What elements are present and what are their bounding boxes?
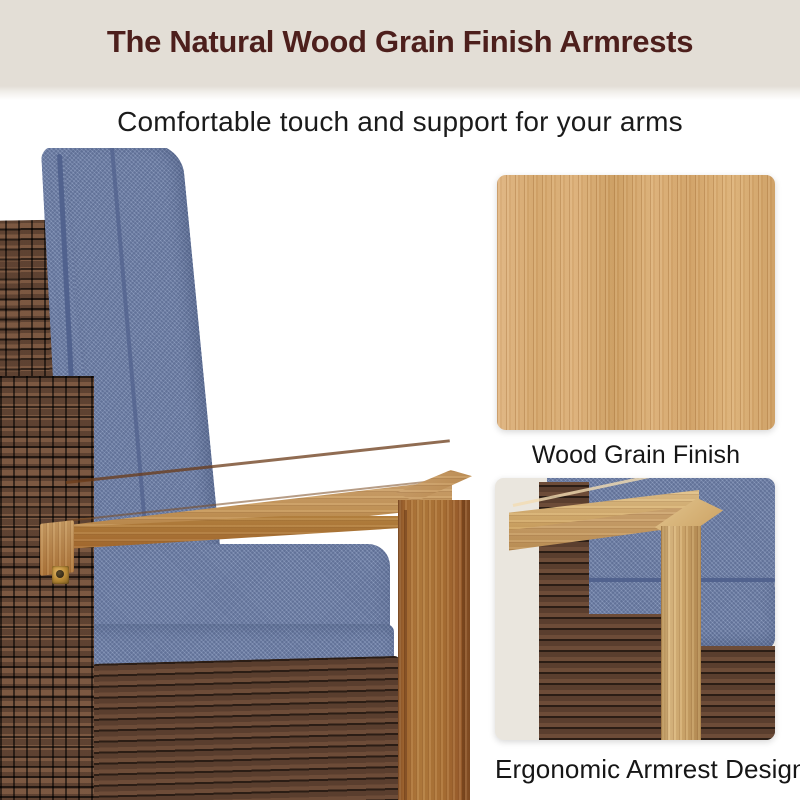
armrest-leg-bevel (404, 510, 407, 800)
closeup-armrest-leg-grain (661, 526, 701, 740)
inset-ergonomic-armrest-label: Ergonomic Armrest Design (495, 754, 775, 785)
armrest-mount-screw (52, 566, 69, 584)
inset-ergonomic-armrest-image (495, 478, 775, 740)
inset-wood-grain-finish-image (497, 175, 775, 430)
wicker-seat-base (84, 656, 400, 800)
screw-core (56, 570, 64, 578)
page-subtitle: Comfortable touch and support for your a… (0, 106, 800, 138)
wicker-front-post (0, 376, 94, 800)
inset-wood-grain-finish-label: Wood Grain Finish (496, 441, 776, 470)
closeup-wicker-right (691, 646, 775, 740)
armrest-vertical-leg (398, 500, 470, 800)
hero-product-photo (0, 148, 482, 800)
closeup-armrest-leg (661, 526, 701, 740)
armrest-leg-grain (398, 500, 470, 800)
page-title: The Natural Wood Grain Finish Armrests (0, 24, 800, 60)
header-gradient-fade (0, 86, 800, 100)
armrest-leg-outer-edge (462, 500, 465, 800)
